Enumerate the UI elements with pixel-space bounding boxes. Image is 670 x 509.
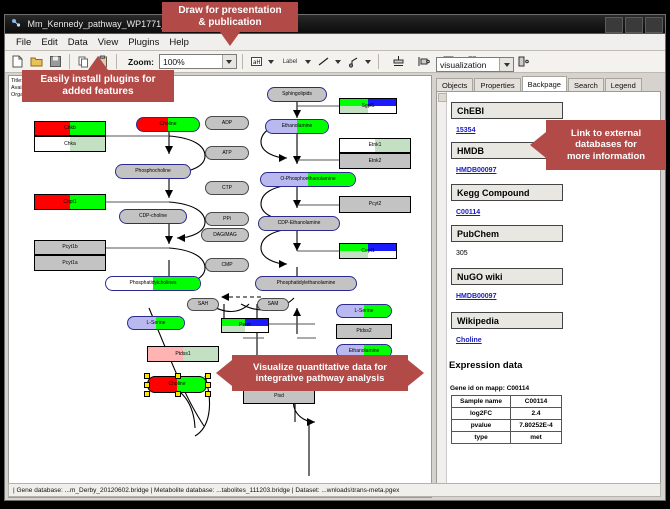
metabolite-node[interactable]: SAH <box>187 298 219 311</box>
scroll-up-button[interactable] <box>438 93 447 102</box>
node-label: Phosphocholine <box>135 169 171 174</box>
node-label: CMP <box>221 263 232 268</box>
cell-key: type <box>452 432 511 444</box>
metabolite-node[interactable]: DAG/MAG <box>201 228 249 242</box>
gene-node-pcyt2[interactable]: Pcyt2 <box>339 196 411 213</box>
cell-key: pvalue <box>452 420 511 432</box>
line-dropdown[interactable] <box>334 54 343 70</box>
group-icon[interactable] <box>515 53 532 70</box>
metabolite-node[interactable]: Phosphatidylethanolamine <box>255 276 357 291</box>
node-label: L-Serine <box>147 321 166 326</box>
metabolite-node[interactable]: ADP <box>205 116 249 130</box>
text-format-dropdown[interactable] <box>267 54 276 70</box>
node-label: O-Phosphoethanolamine <box>280 177 335 182</box>
zoom-combobox[interactable]: 100% <box>159 54 237 69</box>
gene-group-pcyt1[interactable]: Pcyt1b Pcyt1a <box>34 240 106 270</box>
callout-link: Link to externaldatabases formore inform… <box>546 120 666 170</box>
pathvisio-icon <box>11 18 21 28</box>
label-dropdown[interactable] <box>304 54 313 70</box>
chevron-down-icon[interactable] <box>222 55 236 68</box>
db-link-hmdb[interactable]: HMDB00097 <box>456 167 496 174</box>
node-label: Cept1 <box>361 249 374 254</box>
db-link-nugo[interactable]: HMDB00097 <box>456 293 496 300</box>
expression-table: Sample name C00114 log2FC 2.4 pvalue 7.8… <box>451 395 562 444</box>
metabolite-node[interactable]: L-Serine <box>127 316 185 330</box>
line-icon[interactable] <box>315 53 332 70</box>
menu-bar: File Edit Data View Plugins Help <box>5 34 665 51</box>
db-title-pubchem: PubChem <box>451 225 563 242</box>
side-panel-tabs: Objects Properties Backpage Search Legen… <box>436 77 643 92</box>
shape-connector-icon[interactable] <box>345 53 362 70</box>
status-bar: | Gene database: ...m_Derby_20120602.bri… <box>8 483 661 497</box>
node-label: SAM <box>268 302 279 307</box>
align-left-icon[interactable] <box>415 53 432 70</box>
node-label: Pemt <box>239 323 251 328</box>
node-label: Sgpl1 <box>362 104 375 109</box>
callout-draw-arrow-icon <box>220 32 240 46</box>
db-link-wikipedia[interactable]: Choline <box>456 337 482 344</box>
node-label: Ptdss1 <box>175 352 190 357</box>
node-label: DAG/MAG <box>213 233 237 238</box>
callout-link-arrow-icon <box>530 132 546 158</box>
node-label: ADP <box>222 121 232 126</box>
node-label: Pcyt1a <box>62 261 77 266</box>
callout-visualize-arrow-right-icon <box>408 360 424 386</box>
node-label: Chka <box>64 142 76 147</box>
menu-help[interactable]: Help <box>164 36 194 49</box>
metabolite-node[interactable]: CMP <box>205 258 249 272</box>
node-label: PPi <box>223 217 231 222</box>
gene-id-line: Gene id on mapp: C00114 <box>450 385 529 392</box>
metabolite-node[interactable]: CDP-Ethanolamine <box>258 216 340 231</box>
label-text: Label <box>283 59 298 65</box>
gene-node-chpt1[interactable]: Chpt1 <box>34 194 106 210</box>
db-value-pubchem: 305 <box>456 250 468 257</box>
node-label: Chpt1 <box>63 200 76 205</box>
menu-view[interactable]: View <box>93 36 123 49</box>
metabolite-node[interactable]: Ethanolamine <box>265 119 329 134</box>
resize-handle[interactable] <box>144 373 150 379</box>
label-icon[interactable]: Label <box>278 53 302 70</box>
text-format-icon[interactable]: aH <box>248 53 265 70</box>
gene-node-cept1[interactable]: Cept1 <box>339 243 397 259</box>
table-row: pvalue 7.80252E-4 <box>452 420 562 432</box>
node-label: Pisd <box>274 394 284 399</box>
node-label: Chkb <box>64 126 76 131</box>
tab-backpage[interactable]: Backpage <box>522 76 567 91</box>
gene-node-ptdss2[interactable]: Ptdss2 <box>336 324 392 339</box>
zoom-label: Zoom: <box>128 57 154 67</box>
menu-file[interactable]: File <box>11 36 36 49</box>
node-label: ATP <box>222 151 231 156</box>
node-label: Pcyt2 <box>369 202 382 207</box>
toolbar-separator <box>378 54 379 69</box>
vertical-scrollbar[interactable] <box>437 92 447 490</box>
node-label: Sphingolipids <box>282 92 312 97</box>
node-label: CDP-Ethanolamine <box>278 221 321 226</box>
gene-node-etnk2[interactable]: Etnk2 <box>339 153 411 169</box>
callout-draw: Draw for presentation& publication <box>162 2 298 32</box>
tab-legend[interactable]: Legend <box>605 78 642 92</box>
title-bar: Mm_Kennedy_pathway_WP1771_45176.gpml <box>5 15 665 34</box>
gene-node-etnk1[interactable]: Etnk1 <box>339 138 411 153</box>
node-label: Ethanolamine <box>282 124 313 129</box>
shape-dropdown[interactable] <box>364 54 373 70</box>
metabolite-node[interactable]: ATP <box>205 146 249 160</box>
callout-visualize: Visualize quantitative data forintegrati… <box>232 355 408 391</box>
table-row: Sample name C00114 <box>452 396 562 408</box>
cell-value: C00114 <box>511 396 562 408</box>
node-label: Ethanolamine <box>349 349 380 354</box>
resize-handle[interactable] <box>205 391 211 397</box>
menu-plugins[interactable]: Plugins <box>123 36 164 49</box>
db-section-nugo: NuGO wiki HMDB00097 <box>451 268 563 303</box>
callout-plugins-arrow-icon <box>88 56 108 70</box>
resize-handle[interactable] <box>205 373 211 379</box>
cell-key: log2FC <box>452 408 511 420</box>
metabolite-node[interactable]: L-Serine <box>336 304 392 318</box>
toolbar-separator <box>116 54 117 69</box>
gene-group-chk[interactable]: Chkb Chka <box>34 121 106 151</box>
visualization-combobox[interactable]: visualization <box>436 57 514 72</box>
db-title-nugo: NuGO wiki <box>451 268 563 285</box>
selected-node-group[interactable]: Choline <box>147 376 207 393</box>
resize-handle[interactable] <box>175 373 181 379</box>
db-title-kegg: Kegg Compound <box>451 184 563 201</box>
tab-properties[interactable]: Properties <box>474 78 520 92</box>
node-label: Etnk1 <box>369 143 382 148</box>
tab-objects[interactable]: Objects <box>436 78 473 92</box>
menu-edit[interactable]: Edit <box>36 36 62 49</box>
window-controls[interactable] <box>605 17 663 33</box>
toolbar-separator <box>242 54 243 69</box>
gene-group-etnk[interactable]: Etnk1 Etnk2 <box>339 138 411 168</box>
minimize-button[interactable] <box>605 17 623 33</box>
db-section-pubchem: PubChem 305 <box>451 225 563 260</box>
node-label: Choline <box>160 122 177 127</box>
gene-node-sgpl1[interactable]: Sgpl1 <box>339 98 397 114</box>
toolbar-separator <box>69 54 70 69</box>
status-text: | Gene database: ...m_Derby_20120602.bri… <box>13 487 399 494</box>
callout-visualize-arrow-icon <box>216 360 232 386</box>
metabolite-node[interactable]: CTP <box>205 181 249 195</box>
db-title-chebi: ChEBI <box>451 102 563 119</box>
metabolite-node[interactable]: CDP-choline <box>119 209 187 224</box>
metabolite-node[interactable]: O-Phosphoethanolamine <box>260 172 356 187</box>
gene-node-pemt[interactable]: Pemt <box>221 318 269 333</box>
node-label: SAH <box>198 302 208 307</box>
node-label: Etnk2 <box>369 159 382 164</box>
db-link-kegg[interactable]: C00114 <box>456 209 480 216</box>
metabolite-node[interactable]: Sphingolipids <box>267 87 327 102</box>
cell-key: Sample name <box>452 396 511 408</box>
node-label: L-Serine <box>355 309 374 314</box>
metabolite-node[interactable]: PPi <box>205 212 249 226</box>
table-row: log2FC 2.4 <box>452 408 562 420</box>
expression-data-heading: Expression data <box>449 360 522 371</box>
node-label: Ptdss2 <box>356 329 371 334</box>
gene-node-pcyt1a[interactable]: Pcyt1a <box>34 255 106 271</box>
metabolite-node[interactable]: SAM <box>257 298 289 311</box>
metabolite-node-choline-top[interactable]: Choline <box>136 117 200 132</box>
node-label: CTP <box>222 186 232 191</box>
close-button[interactable] <box>645 17 663 33</box>
db-link-chebi[interactable]: 15354 <box>456 127 475 134</box>
node-label: CDP-choline <box>139 214 167 219</box>
gene-node-pcyt1b[interactable]: Pcyt1b <box>34 240 106 255</box>
resize-handle[interactable] <box>144 391 150 397</box>
svg-text:aH: aH <box>253 59 261 66</box>
pathway-canvas[interactable]: Title: Availa Organi <box>8 75 432 498</box>
menu-data[interactable]: Data <box>63 36 93 49</box>
gene-node-chka[interactable]: Chka <box>34 136 106 152</box>
visualization-value: visualization <box>440 60 486 70</box>
cell-value: 7.80252E-4 <box>511 420 562 432</box>
maximize-button[interactable] <box>625 17 643 33</box>
callout-plugins: Easily install plugins foradded features <box>22 70 174 102</box>
node-label: Phosphatidylethanolamine <box>277 281 336 286</box>
save-icon[interactable] <box>47 53 64 70</box>
chevron-down-icon[interactable] <box>499 58 513 71</box>
db-section-kegg: Kegg Compound C00114 <box>451 184 563 219</box>
cell-value: met <box>511 432 562 444</box>
table-row: type met <box>452 432 562 444</box>
metabolite-node[interactable]: Phosphocholine <box>115 164 191 179</box>
open-folder-icon[interactable] <box>28 53 45 70</box>
resize-handle[interactable] <box>175 391 181 397</box>
resize-handle[interactable] <box>205 382 211 388</box>
db-section-wikipedia: Wikipedia Choline <box>451 312 563 347</box>
tab-search[interactable]: Search <box>568 78 604 92</box>
node-label: Phosphatidylcholines <box>130 281 177 286</box>
node-label: Pcyt1b <box>62 245 77 250</box>
cell-value: 2.4 <box>511 408 562 420</box>
align-center-icon[interactable] <box>390 53 407 70</box>
zoom-value: 100% <box>163 57 185 67</box>
db-title-wikipedia: Wikipedia <box>451 312 563 329</box>
metabolite-node[interactable]: Phosphatidylcholines <box>105 276 201 291</box>
gene-node-chkb[interactable]: Chkb <box>34 121 106 136</box>
gene-node-ptdss1[interactable]: Ptdss1 <box>147 346 219 362</box>
node-label: Choline <box>169 382 186 387</box>
resize-handle[interactable] <box>144 382 150 388</box>
new-document-icon[interactable] <box>9 53 26 70</box>
